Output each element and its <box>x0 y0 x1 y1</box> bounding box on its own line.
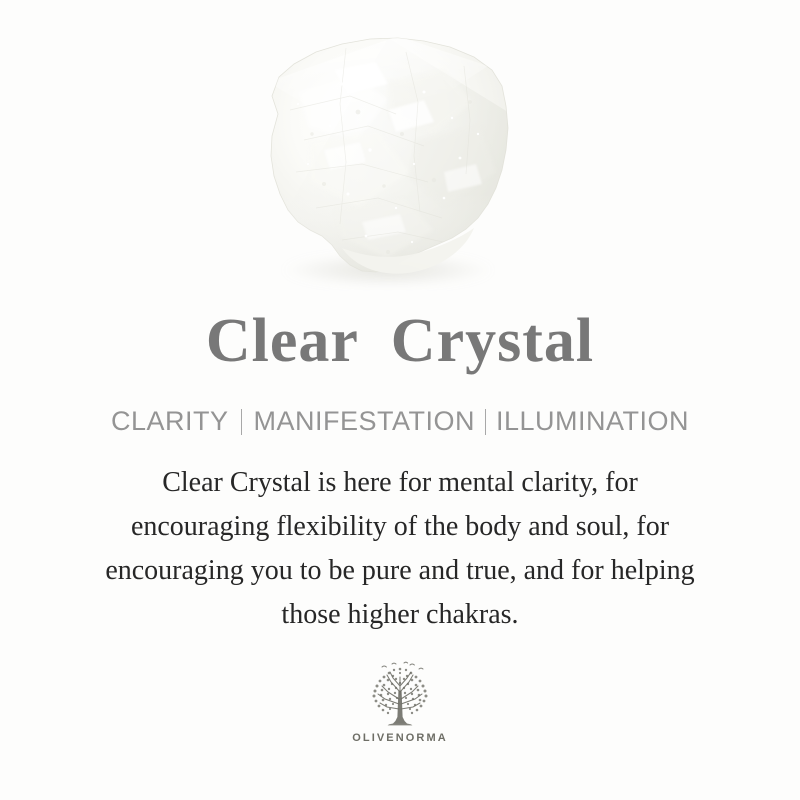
keyword-clarity: CLARITY <box>111 408 229 435</box>
crystal-image-area <box>0 0 800 310</box>
product-card: Clear Crystal CLARITY MANIFESTATION ILLU… <box>0 0 800 800</box>
description-line-2: encouraging flexibility of the body and … <box>40 505 760 549</box>
keyword-illumination: ILLUMINATION <box>496 408 689 435</box>
keyword-separator-1 <box>241 409 242 435</box>
description-line-1: Clear Crystal is here for mental clarity… <box>40 461 760 505</box>
brand-logo: OLIVENORMA <box>352 661 448 744</box>
keyword-line: CLARITY MANIFESTATION ILLUMINATION <box>111 408 689 435</box>
description-line-4: those higher chakras. <box>40 593 760 637</box>
keyword-separator-2 <box>485 409 486 435</box>
product-description: Clear Crystal is here for mental clarity… <box>40 461 760 637</box>
keyword-manifestation: MANIFESTATION <box>254 408 476 435</box>
brand-name: OLIVENORMA <box>352 733 448 744</box>
tree-icon <box>362 661 438 731</box>
page-title: Clear Crystal <box>206 310 594 372</box>
crystal-illustration <box>238 22 538 292</box>
description-line-3: encouraging you to be pure and true, and… <box>40 549 760 593</box>
crystal-photo <box>238 22 538 292</box>
